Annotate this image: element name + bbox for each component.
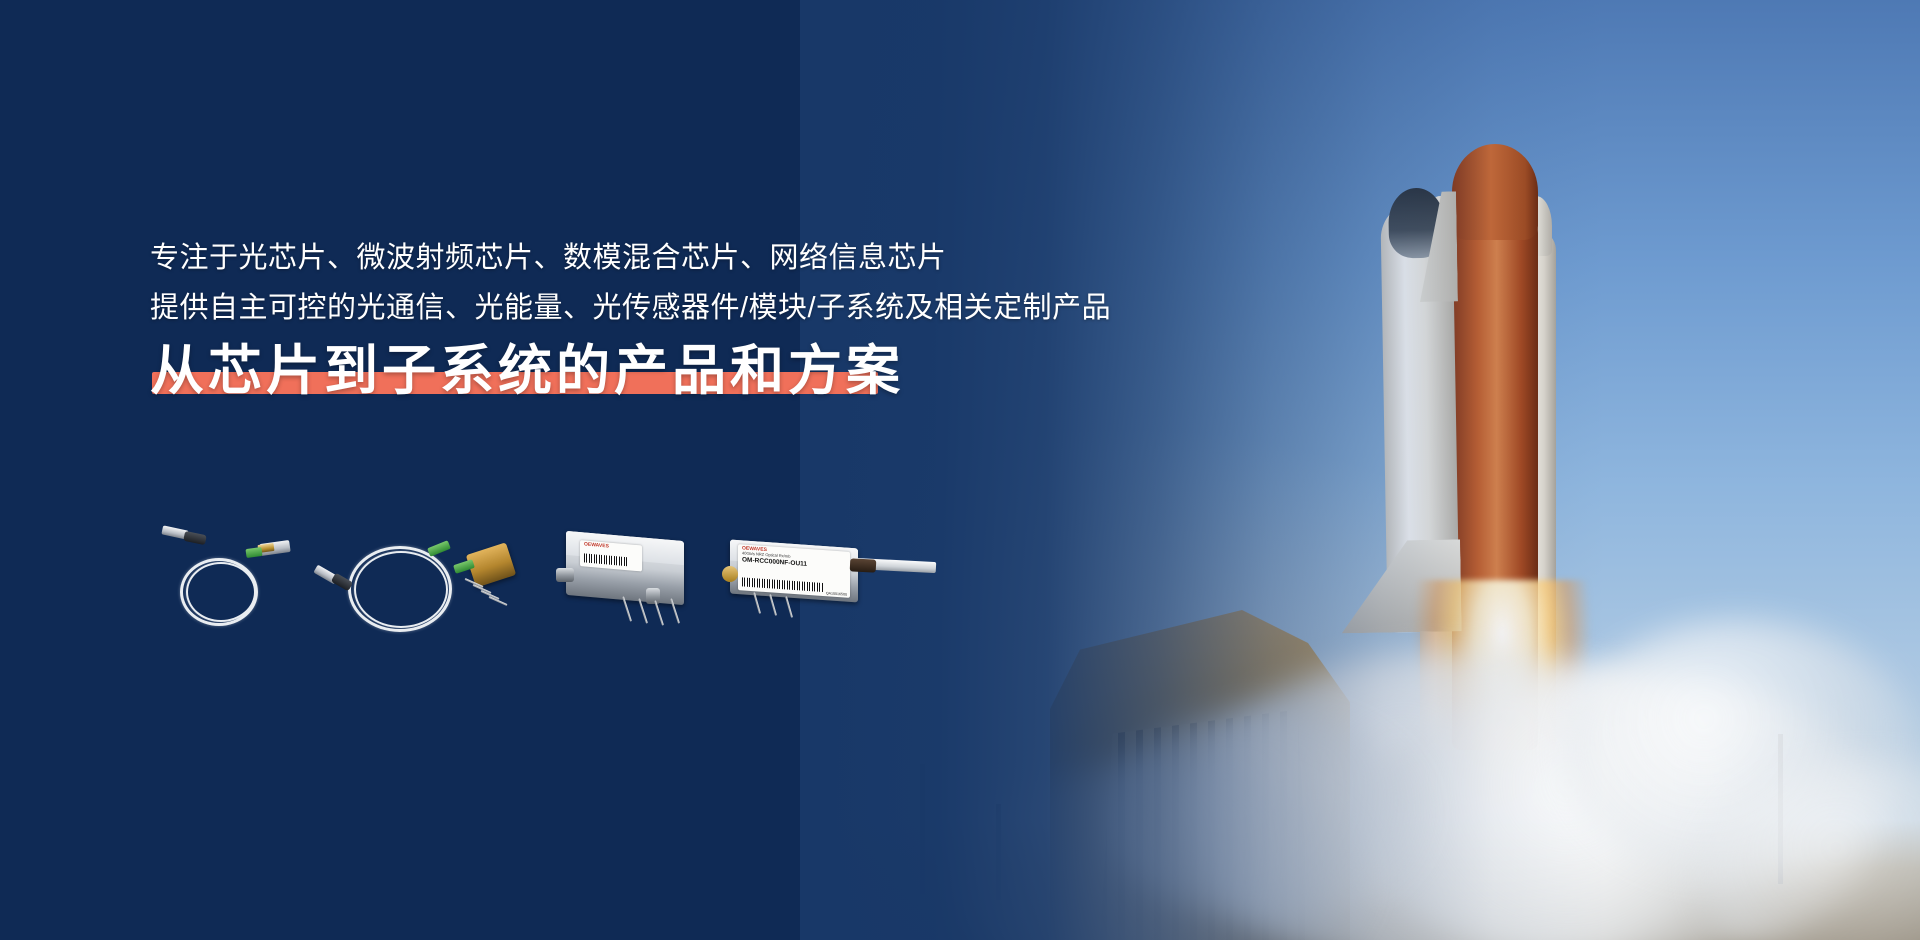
banner-headline: 从芯片到子系统的产品和方案 [150, 340, 904, 404]
product-butterfly-laser [460, 534, 530, 610]
connector-green-sleeve [245, 547, 262, 558]
banner-subtitle-line-2: 提供自主可控的光通信、光能量、光传感器件/模块/子系统及相关定制产品 [150, 285, 1111, 332]
banner-content: 专注于光芯片、微波射频芯片、数模混合芯片、网络信息芯片 提供自主可控的光通信、光… [150, 0, 1150, 940]
rf-module-label: OEWAVES [580, 540, 642, 571]
sma-connector [556, 568, 574, 582]
module-pin [769, 594, 777, 616]
product-image-strip: OEWAVES OEWAVES 40Gb/s NRZ Optica [150, 520, 1170, 660]
banner-subtitle-line-1: 专注于光芯片、微波射频芯片、数模混合芯片、网络信息芯片 [150, 235, 947, 282]
label-barcode [584, 553, 629, 566]
fiber-coil [354, 551, 448, 628]
sma-connector [646, 588, 660, 604]
label-barcode [742, 577, 823, 592]
product-fiber-pigtail-1 [150, 520, 300, 630]
fiber-strain-boot [850, 558, 877, 572]
fiber-boot [183, 531, 207, 545]
hero-banner: 专注于光芯片、微波射频芯片、数模混合芯片、网络信息芯片 提供自主可控的光通信、光… [0, 0, 1920, 940]
connector-green-sleeve [427, 540, 451, 557]
label-serial-number: QA10016500 [826, 591, 847, 596]
product-optical-receiver: OEWAVES 40Gb/s NRZ Optical Rx/mb OM-RCC0… [720, 526, 940, 642]
module-pin [785, 596, 793, 618]
receiver-module-label: OEWAVES 40Gb/s NRZ Optical Rx/mb OM-RCC0… [738, 544, 850, 598]
banner-headline-group: 从芯片到子系统的产品和方案 [150, 340, 904, 404]
rf-module-housing: OEWAVES [566, 531, 684, 605]
module-pin [654, 600, 664, 625]
fiber-coil [186, 562, 256, 622]
product-rf-module: OEWAVES [550, 522, 710, 642]
rf-input-connector [722, 566, 738, 582]
